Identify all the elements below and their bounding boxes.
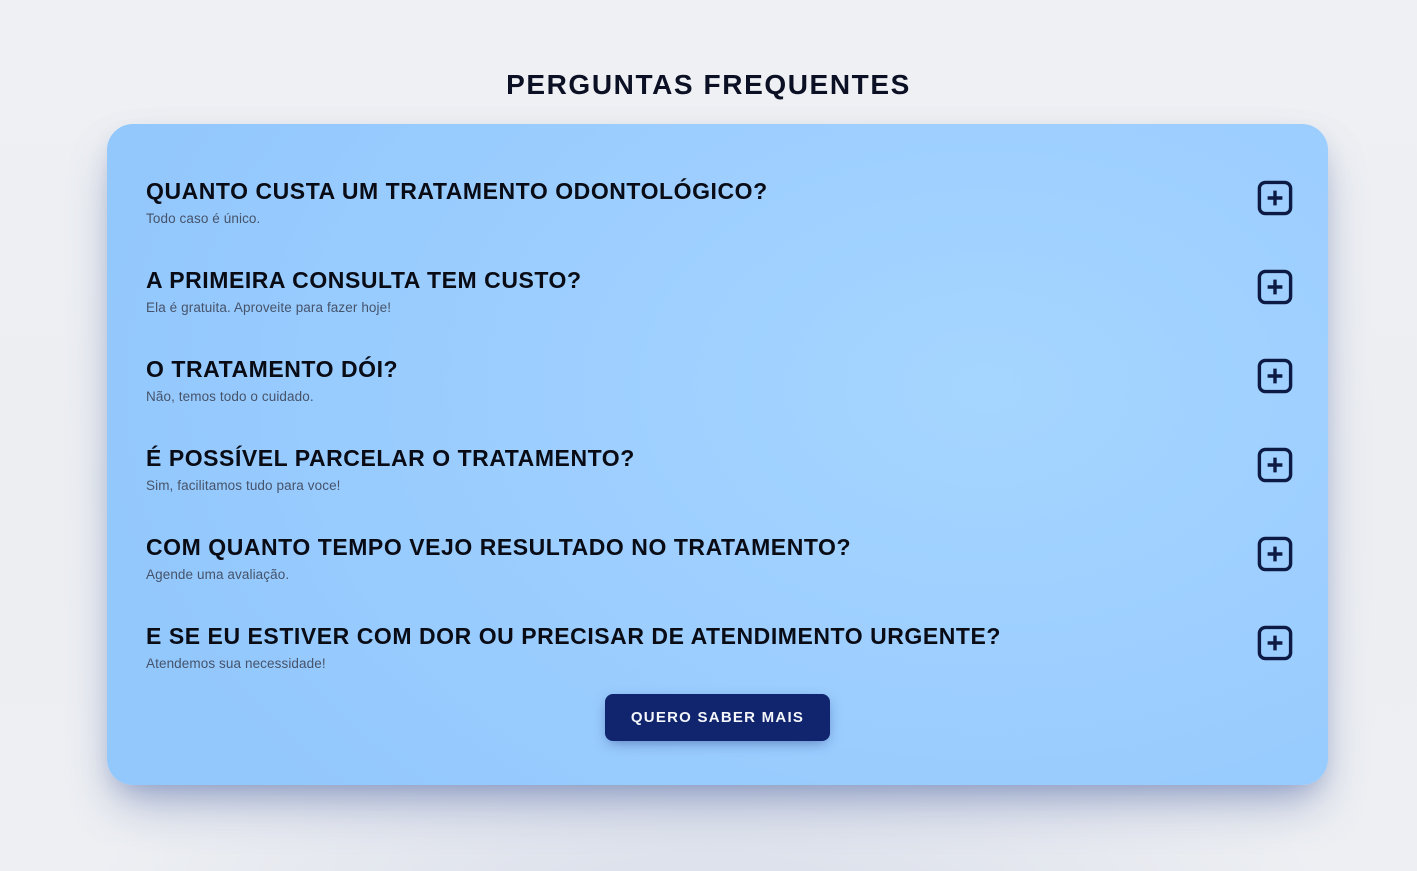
faq-question: É POSSÍVEL PARCELAR O TRATAMENTO? bbox=[146, 443, 1213, 473]
faq-toggle-button[interactable] bbox=[1257, 358, 1293, 394]
faq-item[interactable]: QUANTO CUSTA UM TRATAMENTO ODONTOLÓGICO?… bbox=[146, 176, 1293, 265]
cta-container: QUERO SABER MAIS bbox=[107, 694, 1328, 741]
faq-card: QUANTO CUSTA UM TRATAMENTO ODONTOLÓGICO?… bbox=[107, 124, 1328, 785]
faq-item-text: A PRIMEIRA CONSULTA TEM CUSTO? Ela é gra… bbox=[146, 265, 1213, 317]
faq-list: QUANTO CUSTA UM TRATAMENTO ODONTOLÓGICO?… bbox=[146, 176, 1293, 710]
faq-answer: Ela é gratuita. Aproveite para fazer hoj… bbox=[146, 299, 1213, 317]
faq-item[interactable]: É POSSÍVEL PARCELAR O TRATAMENTO? Sim, f… bbox=[146, 443, 1293, 532]
faq-answer: Sim, facilitamos tudo para voce! bbox=[146, 477, 1213, 495]
faq-answer: Agende uma avaliação. bbox=[146, 566, 1213, 584]
faq-question: A PRIMEIRA CONSULTA TEM CUSTO? bbox=[146, 265, 1213, 295]
faq-toggle-button[interactable] bbox=[1257, 625, 1293, 661]
quero-saber-mais-button[interactable]: QUERO SABER MAIS bbox=[605, 694, 830, 741]
faq-page: PERGUNTAS FREQUENTES QUANTO CUSTA UM TRA… bbox=[0, 0, 1417, 871]
faq-question: E SE EU ESTIVER COM DOR OU PRECISAR DE A… bbox=[146, 621, 1213, 651]
faq-question: O TRATAMENTO DÓI? bbox=[146, 354, 1213, 384]
faq-item-text: E SE EU ESTIVER COM DOR OU PRECISAR DE A… bbox=[146, 621, 1213, 673]
plus-square-icon bbox=[1257, 358, 1293, 394]
faq-item[interactable]: COM QUANTO TEMPO VEJO RESULTADO NO TRATA… bbox=[146, 532, 1293, 621]
plus-square-icon bbox=[1257, 269, 1293, 305]
faq-question: QUANTO CUSTA UM TRATAMENTO ODONTOLÓGICO? bbox=[146, 176, 1213, 206]
faq-question: COM QUANTO TEMPO VEJO RESULTADO NO TRATA… bbox=[146, 532, 1213, 562]
faq-answer: Todo caso é único. bbox=[146, 210, 1213, 228]
faq-item[interactable]: O TRATAMENTO DÓI? Não, temos todo o cuid… bbox=[146, 354, 1293, 443]
faq-item[interactable]: A PRIMEIRA CONSULTA TEM CUSTO? Ela é gra… bbox=[146, 265, 1293, 354]
plus-square-icon bbox=[1257, 180, 1293, 216]
faq-item-text: COM QUANTO TEMPO VEJO RESULTADO NO TRATA… bbox=[146, 532, 1213, 584]
faq-item-text: O TRATAMENTO DÓI? Não, temos todo o cuid… bbox=[146, 354, 1213, 406]
faq-toggle-button[interactable] bbox=[1257, 269, 1293, 305]
faq-answer: Atendemos sua necessidade! bbox=[146, 655, 1213, 673]
plus-square-icon bbox=[1257, 536, 1293, 572]
page-title: PERGUNTAS FREQUENTES bbox=[0, 68, 1417, 102]
faq-toggle-button[interactable] bbox=[1257, 536, 1293, 572]
faq-item-text: QUANTO CUSTA UM TRATAMENTO ODONTOLÓGICO?… bbox=[146, 176, 1213, 228]
faq-toggle-button[interactable] bbox=[1257, 447, 1293, 483]
faq-item-text: É POSSÍVEL PARCELAR O TRATAMENTO? Sim, f… bbox=[146, 443, 1213, 495]
faq-answer: Não, temos todo o cuidado. bbox=[146, 388, 1213, 406]
plus-square-icon bbox=[1257, 447, 1293, 483]
plus-square-icon bbox=[1257, 625, 1293, 661]
faq-toggle-button[interactable] bbox=[1257, 180, 1293, 216]
